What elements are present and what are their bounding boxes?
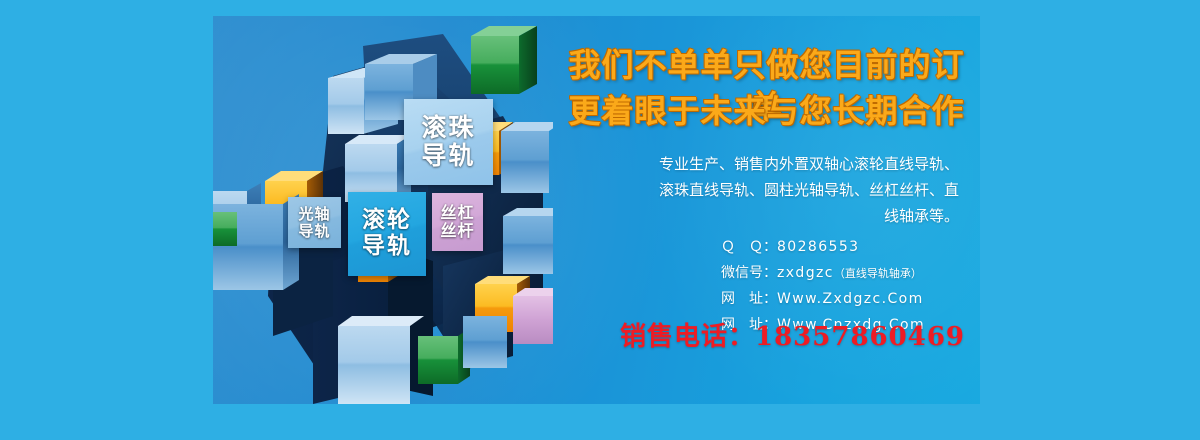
product-label-line2: 导轨 [421, 142, 475, 170]
cube-blue-bottom-right [463, 316, 507, 368]
sales-phone-label: 销售电话： [620, 322, 755, 352]
cube-green-lower [418, 328, 470, 384]
description-line-2: 滚珠直线导轨、圆柱光轴导轨、丝杠丝杆、直 [585, 178, 959, 204]
product-label-ball-guide: 滚珠 导轨 [404, 99, 493, 185]
contact-label: Ｑ Ｑ： [721, 239, 777, 255]
contact-label: 微信号： [721, 265, 777, 281]
contact-row-website-1[interactable]: 网 址：Www.Zxdgzc.Com [721, 286, 980, 312]
contact-note: （直线导轨轴承） [834, 267, 922, 280]
product-label-line1: 光轴 [298, 206, 330, 223]
product-label-line1: 滚珠 [421, 114, 475, 142]
sales-phone: 销售电话：18357860469 [605, 316, 980, 353]
contact-row-wechat: 微信号：zxdgzc（直线导轨轴承） [721, 260, 980, 286]
product-label-roller-guide: 滚轮 导轨 [348, 192, 426, 276]
contact-value: zxdgzc [777, 265, 834, 281]
product-label-lead-screw: 丝杠 丝杆 [432, 193, 483, 251]
company-description: 专业生产、销售内外置双轴心滚轮直线导轨、 滚珠直线导轨、圆柱光轴导轨、丝杠丝杆、… [585, 152, 959, 229]
cube-green-top [471, 26, 537, 94]
contact-value[interactable]: Www.Zxdgzc.Com [777, 291, 924, 307]
contact-value: 80286553 [777, 239, 859, 255]
headline-line-2: 更着眼于未来与您长期合作 [553, 90, 980, 132]
sales-phone-number: 18357860469 [755, 322, 965, 352]
product-label-line2: 丝杆 [440, 222, 474, 240]
product-label-line2: 导轨 [362, 234, 412, 260]
cube-pink-right [513, 288, 553, 344]
product-label-line2: 导轨 [298, 223, 330, 240]
cube-blue-far-left [213, 316, 239, 356]
product-label-line1: 丝杠 [440, 204, 474, 222]
cube-green-left [213, 212, 237, 246]
cube-blue-right-upper [501, 122, 553, 193]
description-line-3: 线轴承等。 [585, 204, 959, 230]
product-label-optical-axis-guide: 光轴 导轨 [288, 197, 341, 248]
banner-text-column: 我们不单单只做您目前的订单 更着眼于未来与您长期合作 专业生产、销售内外置双轴心… [553, 16, 980, 404]
product-label-line1: 滚轮 [362, 208, 412, 234]
description-line-1: 专业生产、销售内外置双轴心滚轮直线导轨、 [585, 152, 959, 178]
contact-row-qq: Ｑ Ｑ：80286553 [721, 234, 980, 260]
contact-label: 网 址： [721, 291, 777, 307]
promo-banner: 滚珠 导轨 光轴 导轨 滚轮 导轨 丝杠 丝杆 我们不单单只做您目前的订单 更着… [213, 16, 980, 404]
cube-blue-right-lower [503, 208, 553, 274]
